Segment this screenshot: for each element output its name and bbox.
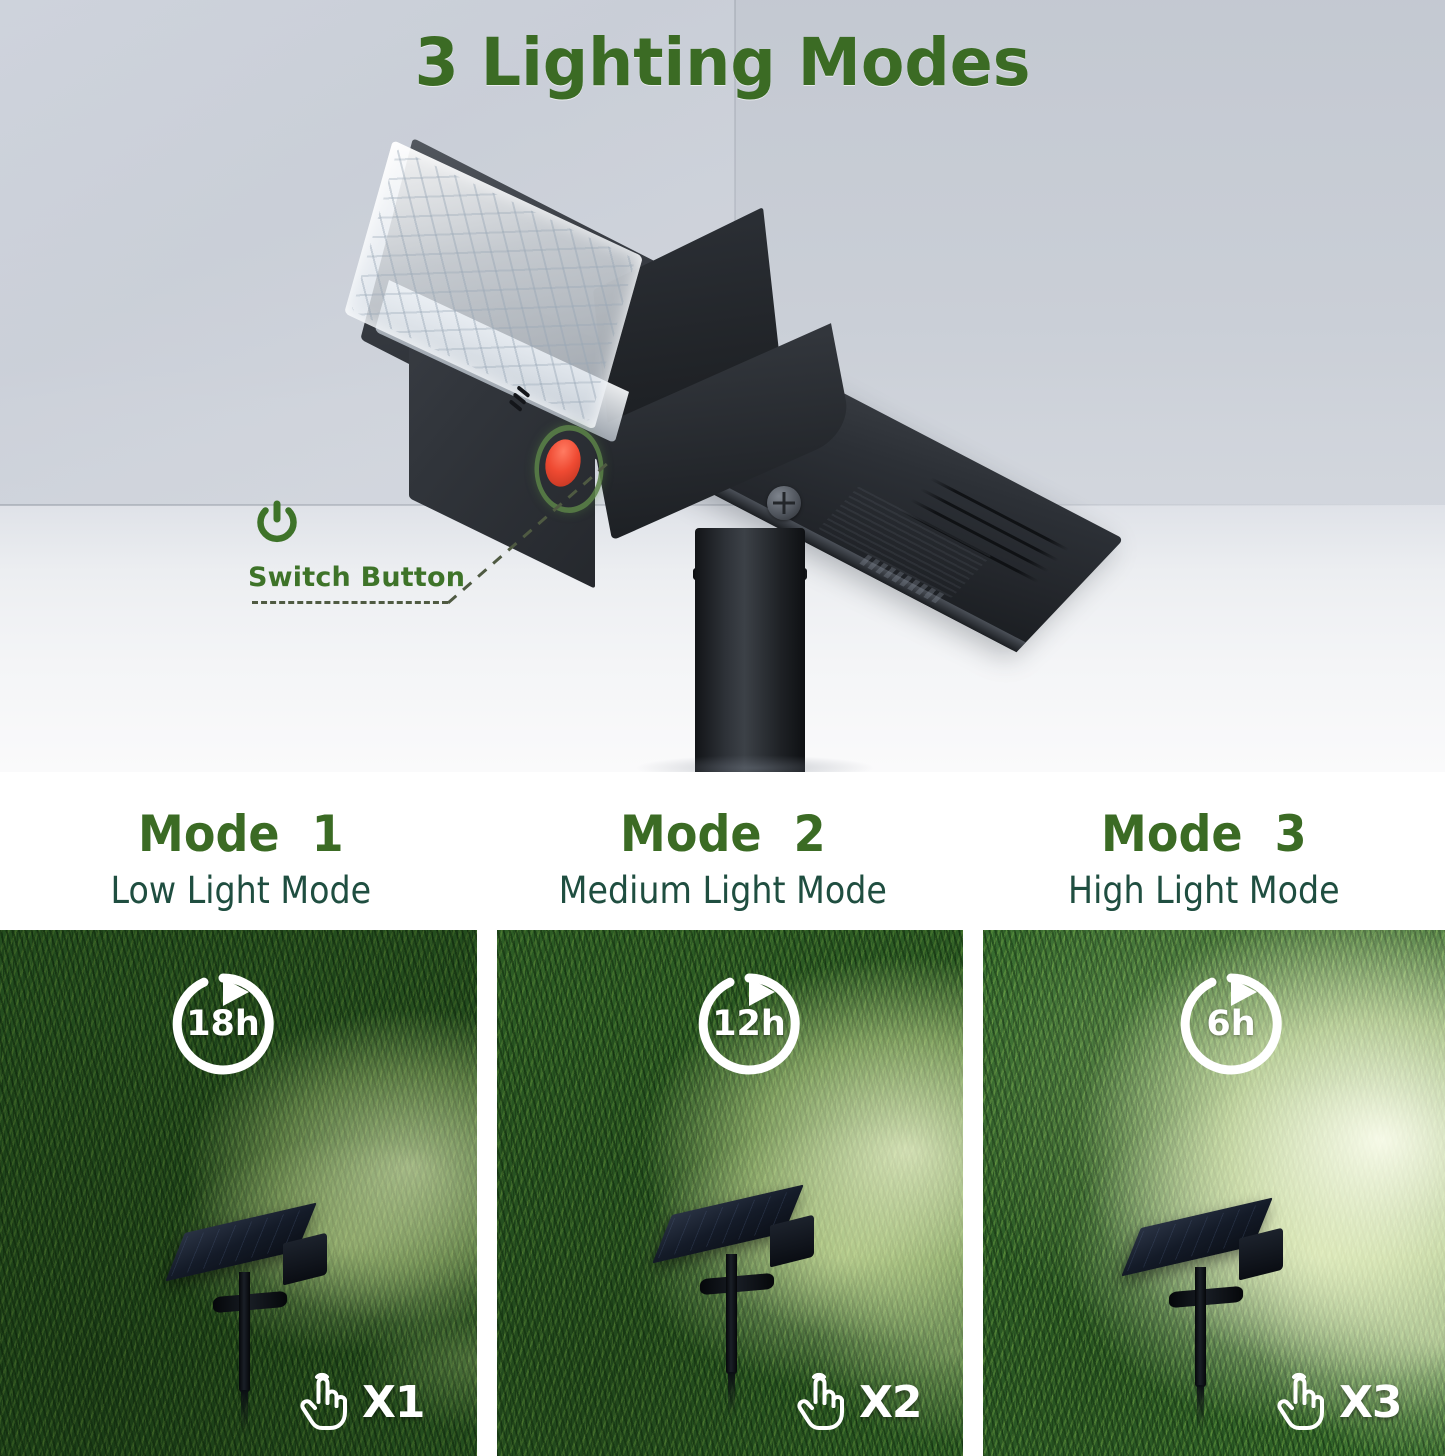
mode-photo-3: 6h X3 [983, 930, 1445, 1456]
lamp-stake-1 [239, 1272, 250, 1392]
mode-subtitle-1: Low Light Mode [24, 869, 458, 912]
lamp-stake-3 [1195, 1267, 1206, 1387]
lamp-stake-2 [726, 1254, 737, 1374]
runtime-value-3: 6h [1175, 968, 1287, 1080]
mode-heading-2: Mode 2 Medium Light Mode [482, 772, 964, 930]
runtime-badge-2: 12h [693, 968, 805, 1080]
tap-count-badge-1: X1 [296, 1372, 425, 1432]
hand-tap-icon [1273, 1372, 1327, 1432]
tap-count-badge-3: X3 [1273, 1372, 1402, 1432]
pole-shadow [635, 755, 875, 772]
mounting-pole [695, 528, 805, 772]
product-infographic: 3 Lighting Modes [0, 0, 1445, 1456]
mode-subtitle-2: Medium Light Mode [506, 869, 940, 912]
lamp-stake-tip-2 [728, 1372, 735, 1416]
mode-photo-1: 18h X1 [0, 930, 477, 1456]
hero-product-photo: 3 Lighting Modes [0, 0, 1445, 772]
runtime-badge-1: 18h [167, 968, 279, 1080]
panel-gap-2 [963, 930, 983, 1456]
lamp-stake-tip-1 [241, 1390, 248, 1434]
hand-tap-icon [296, 1372, 350, 1432]
tap-count-value-3: X3 [1339, 1377, 1402, 1428]
mode-title-3: Mode 3 [983, 805, 1426, 863]
mode-title-2: Mode 2 [501, 805, 944, 863]
lamp-stake-tip-3 [1197, 1385, 1204, 1429]
runtime-value-2: 12h [693, 968, 805, 1080]
panel-gap-1 [477, 930, 497, 1456]
pivot-screw [767, 486, 801, 520]
mode-photo-panels: 18h X1 [0, 930, 1445, 1456]
runtime-badge-3: 6h [1175, 968, 1287, 1080]
mode-heading-1: Mode 1 Low Light Mode [0, 772, 482, 930]
tap-count-badge-2: X2 [793, 1372, 922, 1432]
hand-tap-icon [793, 1372, 847, 1432]
runtime-value-1: 18h [167, 968, 279, 1080]
mode-photo-2: 12h X2 [497, 930, 963, 1456]
tap-count-value-2: X2 [859, 1377, 922, 1428]
solar-spotlight-product [385, 130, 1175, 772]
mode-headings-row: Mode 1 Low Light Mode Mode 2 Medium Ligh… [0, 772, 1445, 930]
mode-title-1: Mode 1 [19, 805, 462, 863]
page-title: 3 Lighting Modes [29, 24, 1416, 101]
lens-texture-grid [352, 148, 636, 422]
mode-heading-3: Mode 3 High Light Mode [963, 772, 1445, 930]
mode-subtitle-3: High Light Mode [987, 869, 1421, 912]
tap-count-value-1: X1 [362, 1377, 425, 1428]
